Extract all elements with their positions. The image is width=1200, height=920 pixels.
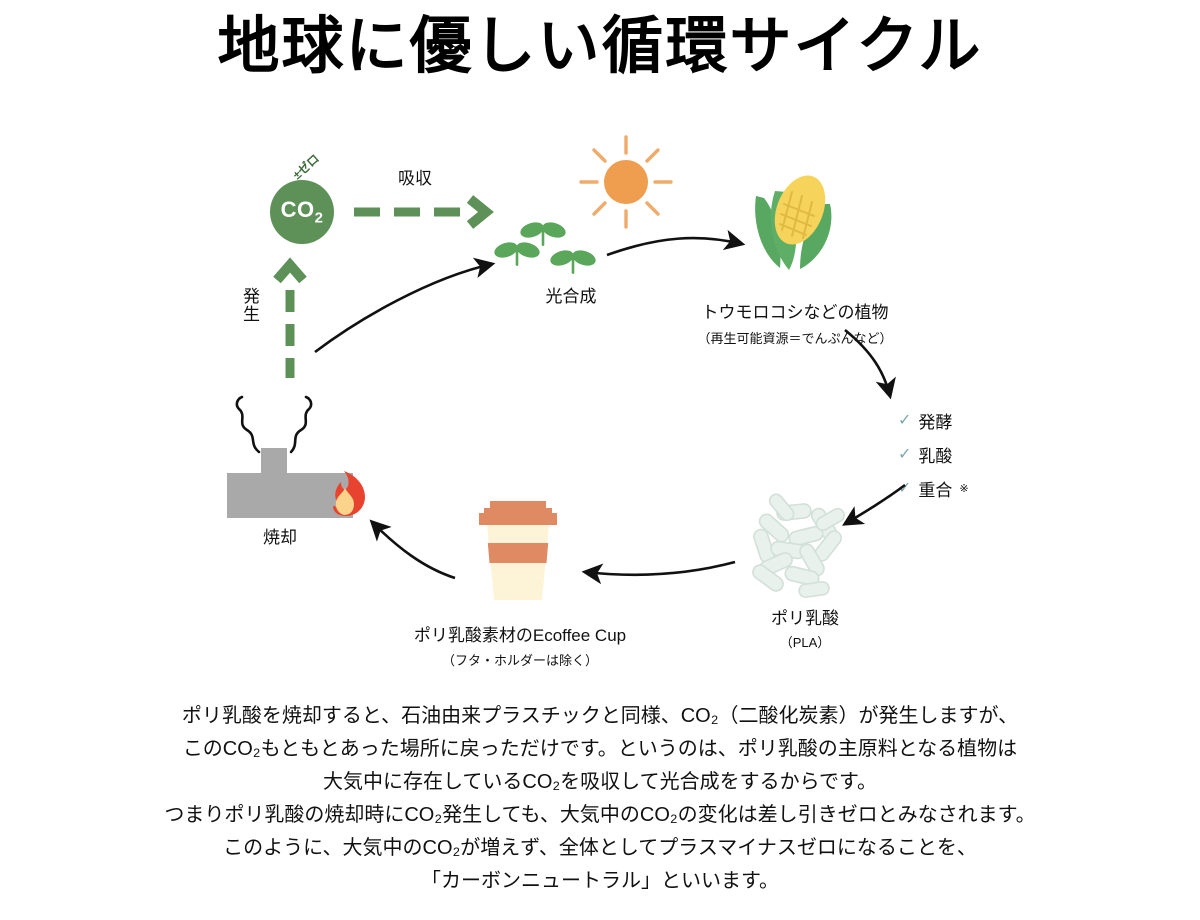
- arrow-process-to-pla: [845, 485, 905, 524]
- arrow-corn-to-process: [845, 330, 890, 396]
- arrow-pla-to-cup: [585, 562, 735, 575]
- footnote-line: 大気中に存在しているCO₂を吸収して光合成をするからです。: [0, 766, 1200, 799]
- footnote-line: つまりポリ乳酸の焼却時にCO₂発生しても、大気中のCO₂の変化は差し引きゼロとみ…: [0, 799, 1200, 832]
- footnote-line: このCO₂もともとあった場所に戻っただけです。というのは、ポリ乳酸の主原料となる…: [0, 733, 1200, 766]
- footnote-line: このように、大気中のCO₂が増えず、全体としてプラスマイナスゼロになることを、: [0, 832, 1200, 865]
- infographic-canvas: 地球に優しい循環サイクル ±ゼロ CO2 吸収 発生: [0, 0, 1200, 920]
- arrow-photosynthesis-to-corn: [607, 238, 742, 255]
- footnote-paragraph: ポリ乳酸を焼却すると、石油由来プラスチックと同様、CO₂（二酸化炭素）が発生しま…: [0, 700, 1200, 898]
- footnote-line: ポリ乳酸を焼却すると、石油由来プラスチックと同様、CO₂（二酸化炭素）が発生しま…: [0, 700, 1200, 733]
- cycle-arrows: [0, 0, 1200, 700]
- footnote-line: 「カーボンニュートラル」といいます。: [0, 865, 1200, 898]
- arrow-cup-to-incineration: [372, 522, 455, 578]
- arrow-to-photosynthesis: [315, 264, 492, 352]
